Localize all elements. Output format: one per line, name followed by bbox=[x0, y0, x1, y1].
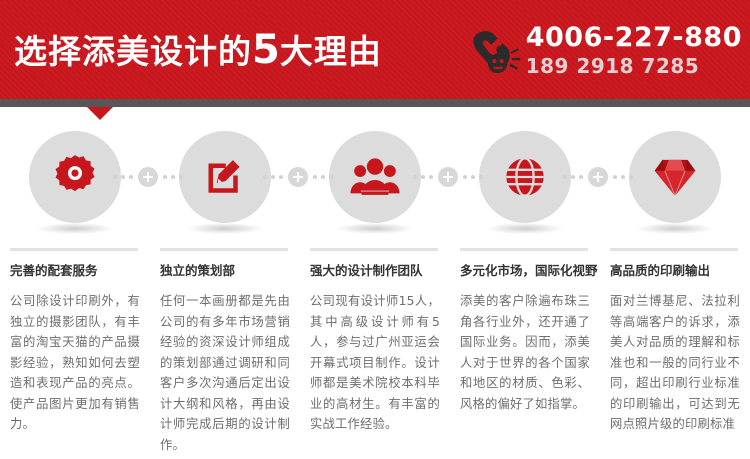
heading-rule bbox=[460, 248, 588, 251]
plus-icon-4 bbox=[588, 167, 608, 187]
connector-3 bbox=[413, 167, 487, 187]
heading-rule bbox=[10, 248, 138, 251]
feature-heading-4: 多元化市场，国际化视野 bbox=[460, 260, 590, 279]
header-banner: 选择添美设计的5大理由 4006-227-880 bbox=[0, 0, 750, 99]
phone-numbers: 4006-227-880 189 2918 7285 bbox=[526, 24, 742, 78]
feature-heading-cell-4: 多元化市场，国际化视野 bbox=[450, 248, 600, 279]
contact-block: 4006-227-880 189 2918 7285 bbox=[470, 24, 742, 78]
connector-dots-left bbox=[413, 175, 433, 179]
plus-icon-3 bbox=[438, 167, 458, 187]
connector-2 bbox=[263, 167, 337, 187]
connector-dots-left bbox=[263, 175, 283, 179]
diamond-icon bbox=[650, 155, 700, 199]
edit-pencil-icon bbox=[201, 153, 249, 201]
connector-1 bbox=[113, 167, 187, 187]
banner-notch-triangle bbox=[87, 107, 113, 120]
feature-body-3: 公司现有设计师15人，其中高级设计师有5人，参与过广州亚运会开幕式项目制作。设计… bbox=[300, 291, 450, 455]
connector-dots-right bbox=[613, 175, 633, 179]
heading-rule bbox=[610, 248, 738, 251]
icon-circle-4 bbox=[479, 131, 571, 223]
feature-body-1: 公司除设计印刷外，有独立的摄影团队，有丰富的淘宝天猫的产品摄影经验，熟知如何去塑… bbox=[0, 291, 150, 455]
heading-rule bbox=[310, 248, 438, 251]
feature-body-row: 公司除设计印刷外，有独立的摄影团队，有丰富的淘宝天猫的产品摄影经验，熟知如何去塑… bbox=[0, 291, 750, 455]
icon-circle-1 bbox=[29, 131, 121, 223]
promo-page: 选择添美设计的5大理由 4006-227-880 bbox=[0, 0, 750, 459]
page-title-number: 5 bbox=[252, 27, 280, 73]
page-title-tail: 大理由 bbox=[280, 32, 382, 71]
feature-icons-row bbox=[0, 122, 750, 232]
icon-circle-3 bbox=[329, 131, 421, 223]
gear-icon bbox=[50, 152, 100, 202]
feature-heading-2: 独立的策划部 bbox=[160, 260, 290, 279]
feature-body-4: 添美的客户除遍布珠三角各行业外，还开通了国际业务。因而，添美人对于世界的各个国家… bbox=[450, 291, 600, 455]
feature-heading-cell-1: 完善的配套服务 bbox=[0, 248, 150, 279]
icon-circle-5 bbox=[629, 131, 721, 223]
connector-dots-left bbox=[563, 175, 583, 179]
feature-heading-cell-2: 独立的策划部 bbox=[150, 248, 300, 279]
feature-heading-1: 完善的配套服务 bbox=[10, 260, 140, 279]
connector-dots-right bbox=[313, 175, 333, 179]
connector-dots-left bbox=[113, 175, 133, 179]
feature-headings-row: 完善的配套服务 独立的策划部 强大的设计制作团队 多元化市场，国际化视野 高品质… bbox=[0, 248, 750, 279]
connector-dots-right bbox=[163, 175, 183, 179]
feature-body-2: 任何一本画册都是先由公司的有多年市场营销经验的资深设计师组成的策划部通过调研和同… bbox=[150, 291, 300, 455]
telephone-icon bbox=[470, 28, 522, 78]
phone-primary: 4006-227-880 bbox=[526, 24, 742, 52]
feature-body-5: 面对兰博基尼、法拉利等高端客户的诉求，添美人对品质的理解和标准也和一般的同行业不… bbox=[600, 291, 750, 455]
feature-heading-cell-5: 高品质的印刷输出 bbox=[600, 248, 750, 279]
plus-icon-1 bbox=[138, 167, 158, 187]
banner-bottom-strip bbox=[0, 99, 750, 107]
page-title: 选择添美设计的5大理由 bbox=[14, 30, 382, 72]
heading-rule bbox=[160, 248, 288, 251]
connector-4 bbox=[563, 167, 637, 187]
phone-secondary: 189 2918 7285 bbox=[526, 54, 742, 78]
globe-icon bbox=[502, 154, 548, 200]
feature-heading-3: 强大的设计制作团队 bbox=[310, 260, 440, 279]
feature-icon-cell-5 bbox=[600, 122, 750, 232]
feature-heading-5: 高品质的印刷输出 bbox=[610, 260, 740, 279]
connector-dots-right bbox=[463, 175, 483, 179]
plus-icon-2 bbox=[288, 167, 308, 187]
icon-circle-2 bbox=[179, 131, 271, 223]
feature-heading-cell-3: 强大的设计制作团队 bbox=[300, 248, 450, 279]
team-people-icon bbox=[349, 154, 401, 200]
page-title-main: 选择添美设计的 bbox=[14, 32, 252, 71]
